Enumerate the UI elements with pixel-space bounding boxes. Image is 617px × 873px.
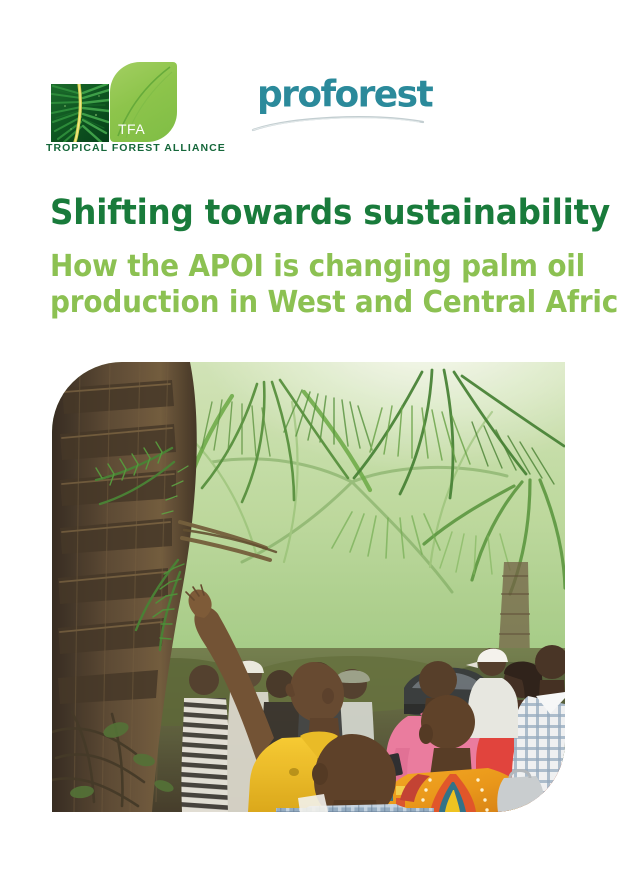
tfa-logo-mark: TFA <box>46 62 206 142</box>
tfa-palm-frond-square-icon <box>51 84 109 142</box>
proforest-swoosh-icon <box>251 111 426 133</box>
page-subtitle-line-2: production in West and Central Africa <box>50 285 557 321</box>
cover-photo <box>52 362 565 812</box>
tfa-logo: TFA TROPICAL FOREST ALLIANCE <box>46 62 206 165</box>
page-title: Shifting towards sustainability <box>50 193 557 233</box>
cover-page: TFA TROPICAL FOREST ALLIANCE proforest S… <box>0 0 617 873</box>
tfa-wordmark: TROPICAL FOREST ALLIANCE <box>46 142 206 154</box>
page-subtitle: How the APOI is changing palm oil produc… <box>50 249 557 320</box>
logo-bar: TFA TROPICAL FOREST ALLIANCE proforest <box>46 62 426 167</box>
tfa-leaf-icon: TFA <box>110 62 177 142</box>
page-subtitle-line-1: How the APOI is changing palm oil <box>50 249 557 285</box>
tfa-abbreviation-label: TFA <box>118 121 145 137</box>
proforest-wordmark: proforest <box>257 77 432 114</box>
proforest-logo: proforest <box>251 77 426 147</box>
title-block: Shifting towards sustainability How the … <box>50 193 595 320</box>
